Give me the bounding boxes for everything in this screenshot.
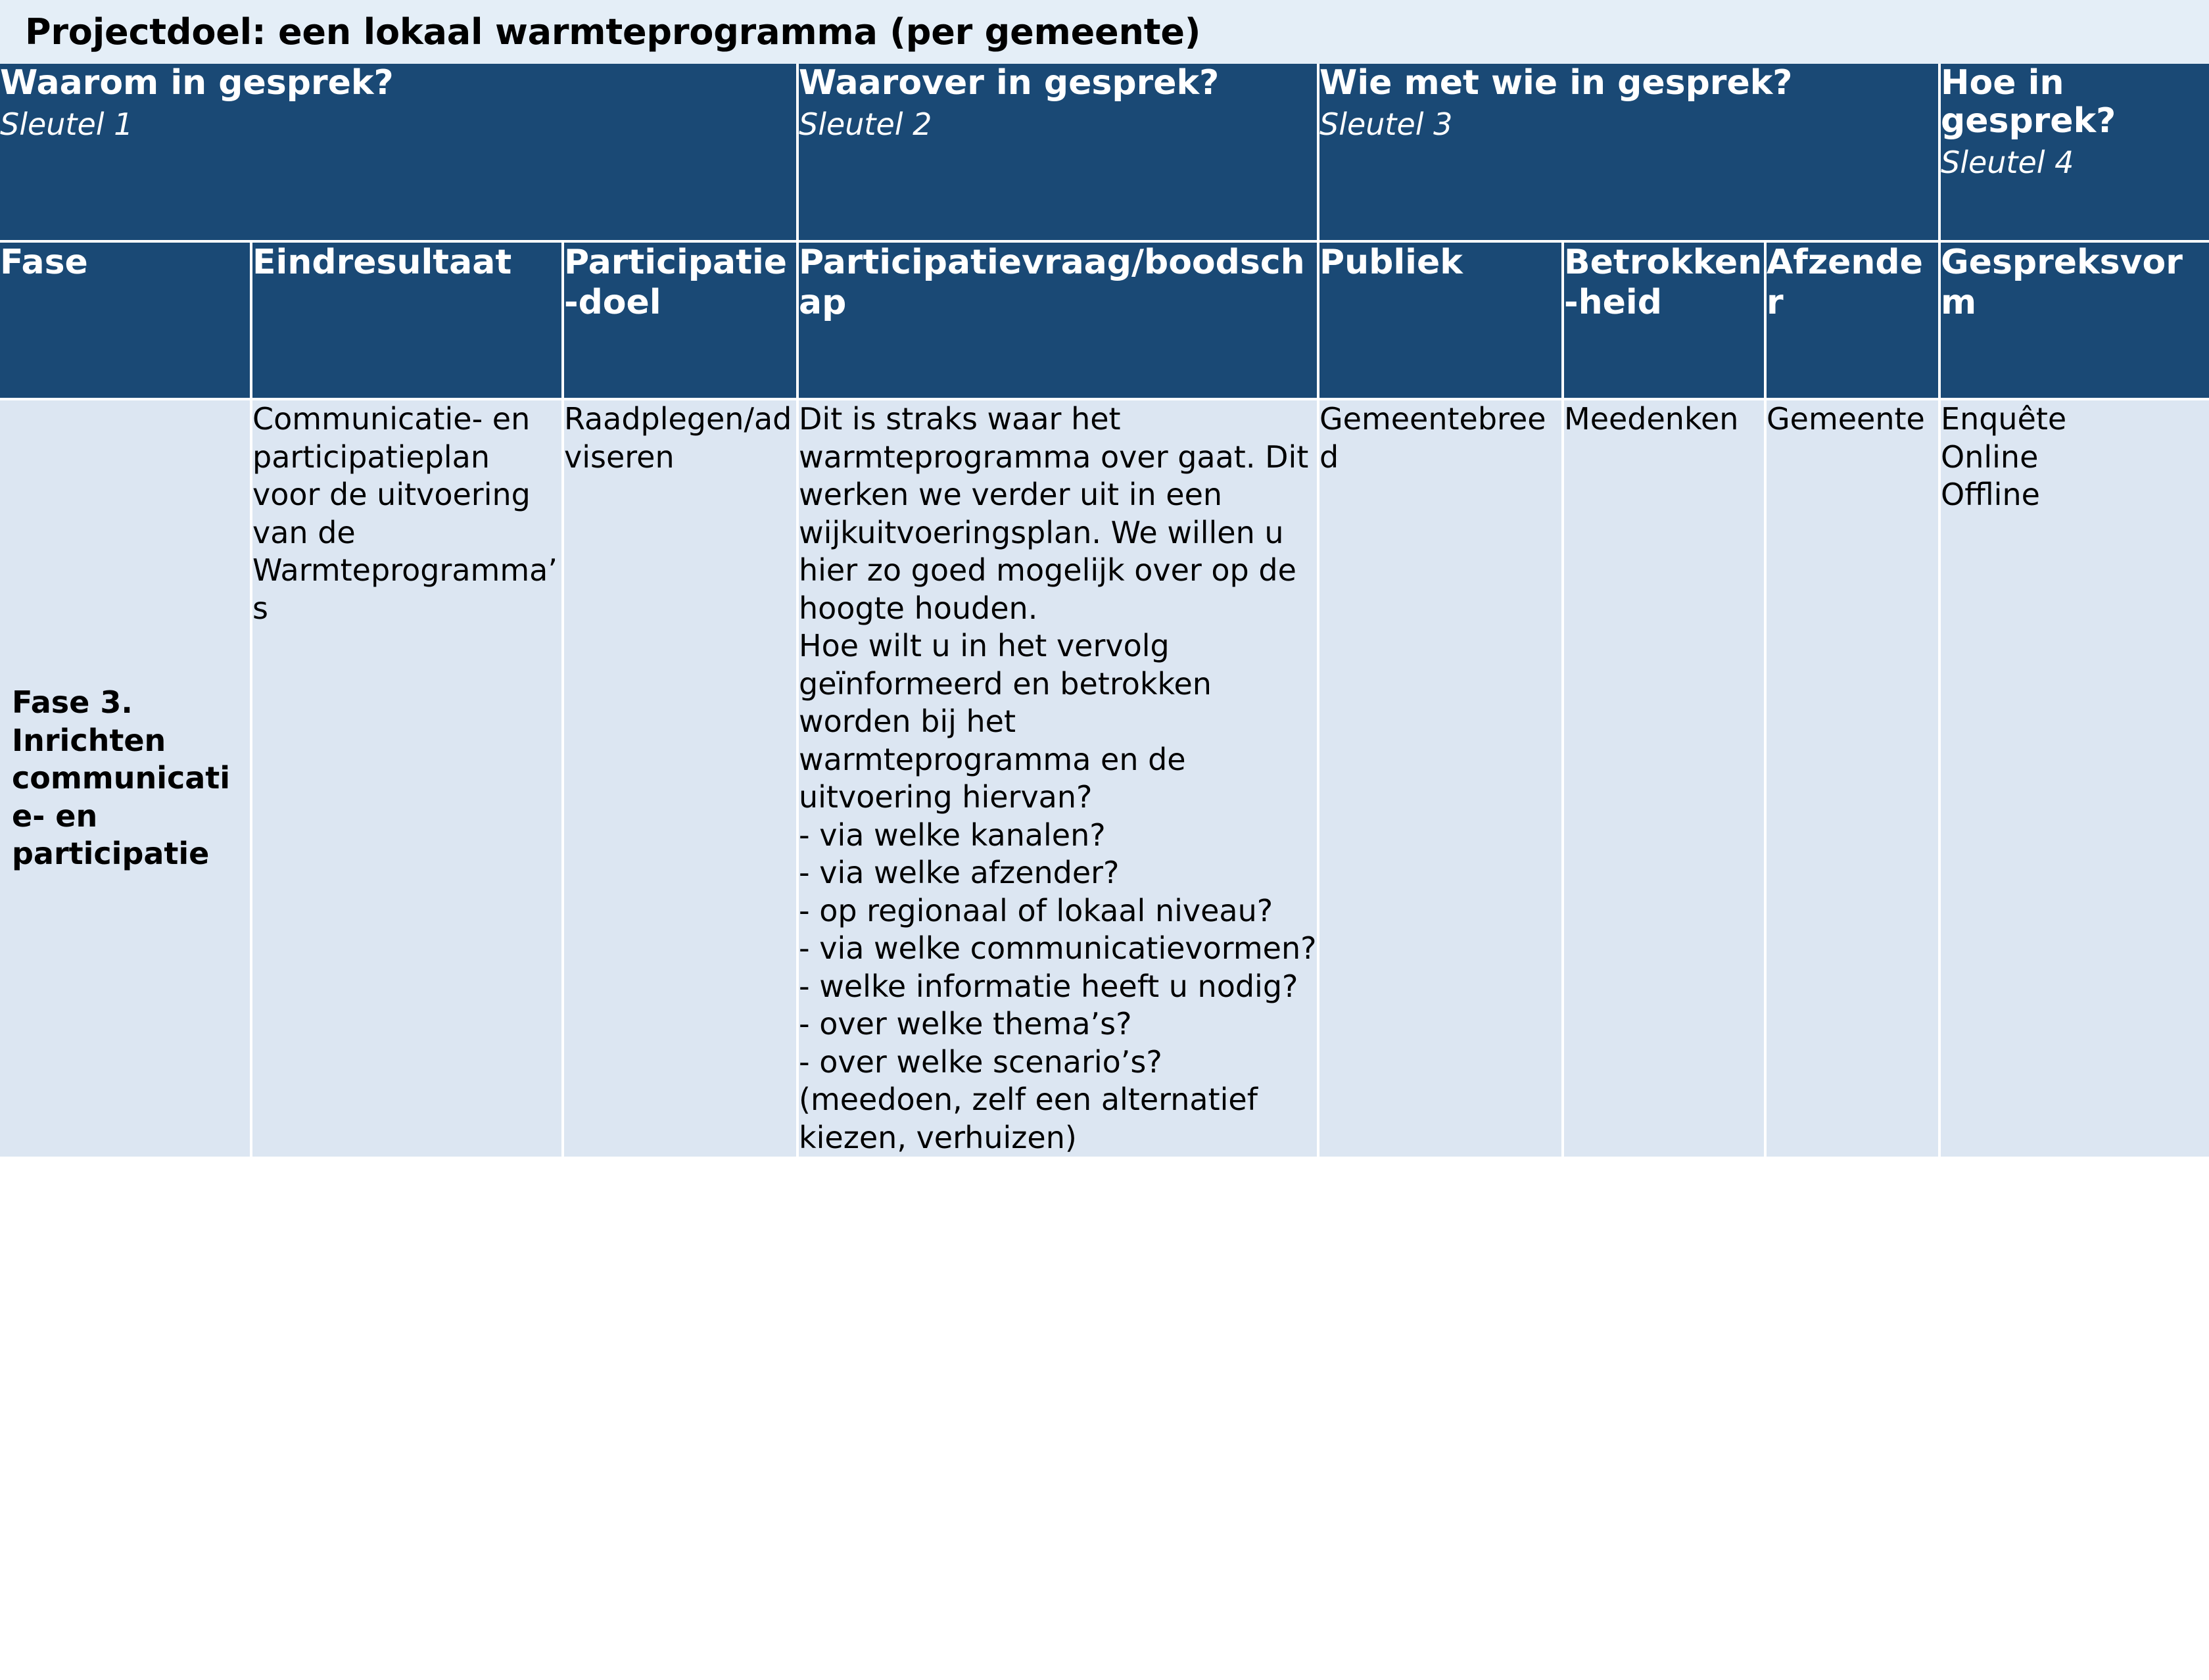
cell-publiek: Gemeentebreed: [1318, 399, 1563, 1158]
group-key-4: Sleutel 4: [1941, 145, 2209, 180]
cell-afzender: Gemeente: [1765, 399, 1939, 1158]
cell-participatievraag: Dit is straks waar het warmteprogramma o…: [797, 399, 1318, 1158]
group-question-1: Waarom in gesprek?: [0, 64, 796, 102]
group-key-2: Sleutel 2: [799, 107, 1317, 142]
page-title: Projectdoel: een lokaal warmteprogramma …: [25, 11, 1200, 53]
column-header-afzender: Afzender: [1765, 241, 1939, 399]
group-header-waarom: Waarom in gesprek? Sleutel 1: [0, 64, 797, 241]
group-question-4: Hoe in gesprek?: [1941, 64, 2209, 140]
column-header-row: Fase Eindresultaat Participatie-doel Par…: [0, 241, 2209, 399]
group-key-1: Sleutel 1: [0, 107, 796, 142]
group-header-waarover: Waarover in gesprek? Sleutel 2: [797, 64, 1318, 241]
cell-eindresultaat: Communicatie- en participatieplan voor d…: [251, 399, 563, 1158]
group-header-hoe: Hoe in gesprek? Sleutel 4: [1939, 64, 2209, 241]
participation-matrix-table: Waarom in gesprek? Sleutel 1 Waarover in…: [0, 64, 2209, 1159]
column-header-participatievraag: Participatievraag/boodschap: [797, 241, 1318, 399]
table-row: Fase 3. Inrichten communicatie- en parti…: [0, 399, 2209, 1158]
group-header-wie-met-wie: Wie met wie in gesprek? Sleutel 3: [1318, 64, 1939, 241]
cell-fase: Fase 3. Inrichten communicatie- en parti…: [0, 399, 251, 1158]
column-header-gespreksvorm: Gespreksvorm: [1939, 241, 2209, 399]
cell-gespreksvorm: Enquête Online Offline: [1939, 399, 2209, 1158]
worksheet-page: Projectdoel: een lokaal warmteprogramma …: [0, 0, 2209, 1680]
project-goal-title-bar: Projectdoel: een lokaal warmteprogramma …: [0, 0, 2209, 64]
cell-betrokkenheid: Meedenken: [1563, 399, 1765, 1158]
column-header-eindresultaat: Eindresultaat: [251, 241, 563, 399]
group-header-row: Waarom in gesprek? Sleutel 1 Waarover in…: [0, 64, 2209, 241]
column-header-fase: Fase: [0, 241, 251, 399]
column-header-publiek: Publiek: [1318, 241, 1563, 399]
group-key-3: Sleutel 3: [1319, 107, 1938, 142]
column-header-betrokkenheid: Betrokken-heid: [1563, 241, 1765, 399]
group-question-2: Waarover in gesprek?: [799, 64, 1317, 102]
column-header-participatiedoel: Participatie-doel: [563, 241, 797, 399]
cell-participatiedoel: Raadplegen/adviseren: [563, 399, 797, 1158]
group-question-3: Wie met wie in gesprek?: [1319, 64, 1938, 102]
